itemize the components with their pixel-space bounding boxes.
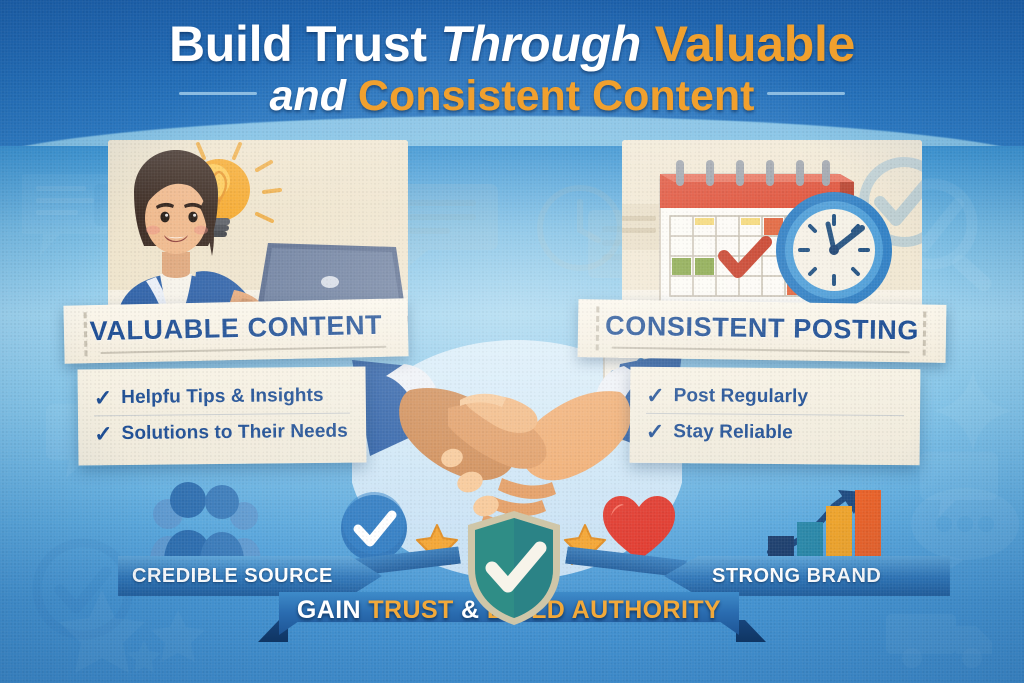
checklist-item: ✓ Post Regularly xyxy=(646,378,904,415)
sparkle-decor-icon xyxy=(930,368,1016,454)
title-segment-consistent-content: Consistent Content xyxy=(358,72,755,120)
page-title: Build Trust Through Valuable and Consist… xyxy=(0,0,1024,120)
check-icon: ✓ xyxy=(94,423,113,445)
consistent-posting-scene xyxy=(622,140,922,325)
people-group-icon xyxy=(148,480,264,562)
credible-source-label: CREDIBLE SOURCE xyxy=(132,565,333,588)
strong-brand-pill: STRONG BRAND xyxy=(664,556,950,596)
banner-segment-trust: TRUST xyxy=(368,596,453,624)
valuable-content-checklist: ✓ Helpfu Tips & Insights ✓ Solutions to … xyxy=(78,366,367,465)
consistent-posting-card-header: CONSISTENT POSTING xyxy=(578,299,947,363)
divider-rule xyxy=(100,346,386,354)
checklist-item-label: Solutions to Their Needs xyxy=(122,420,348,444)
title-segment-through: Through xyxy=(440,16,654,72)
checklist-item: ✓ Solutions to Their Needs xyxy=(94,413,350,452)
check-icon: ✓ xyxy=(646,420,665,442)
credible-source-pill: CREDIBLE SOURCE xyxy=(118,556,382,596)
checklist-item-label: Helpfu Tips & Insights xyxy=(121,384,324,408)
checklist-item: ✓ Helpfu Tips & Insights xyxy=(94,378,350,416)
title-dash-right xyxy=(767,92,845,95)
woman-at-laptop-illustration xyxy=(108,140,408,325)
note-decor-icon xyxy=(622,204,662,250)
clock-decor-icon xyxy=(534,182,626,274)
check-icon: ✓ xyxy=(646,384,665,406)
shield-check-icon xyxy=(462,508,566,628)
divider-rule xyxy=(612,347,910,354)
title-segment-and: and xyxy=(270,72,358,120)
valuable-content-title: VALUABLE CONTENT xyxy=(64,309,409,347)
valuable-content-scene xyxy=(108,140,408,325)
valuable-content-card-header: VALUABLE CONTENT xyxy=(63,298,408,363)
check-icon: ✓ xyxy=(94,387,113,409)
stars-decor-icon xyxy=(40,584,270,683)
banner-flap-right xyxy=(736,620,766,642)
clock-icon xyxy=(776,192,892,308)
title-segment-valuable: Valuable xyxy=(655,16,855,72)
checklist-item-label: Stay Reliable xyxy=(673,421,793,444)
infographic-canvas: Build Trust Through Valuable and Consist… xyxy=(0,0,1024,683)
consistent-posting-checklist: ✓ Post Regularly ✓ Stay Reliable xyxy=(630,367,921,466)
title-segment-build-trust: Build Trust xyxy=(169,16,440,72)
consistent-posting-title: CONSISTENT POSTING xyxy=(578,310,946,347)
checklist-item-label: Post Regularly xyxy=(674,385,809,408)
speech-bubble-small-decor-icon xyxy=(920,448,1006,522)
calendar-clock-illustration xyxy=(622,140,922,325)
banner-segment-gain: GAIN xyxy=(297,596,368,624)
checklist-item: ✓ Stay Reliable xyxy=(646,413,904,451)
check-circle-icon xyxy=(338,492,410,564)
van-decor-icon xyxy=(880,592,1000,678)
title-dash-left xyxy=(179,92,257,95)
strong-brand-label: STRONG BRAND xyxy=(712,565,881,588)
